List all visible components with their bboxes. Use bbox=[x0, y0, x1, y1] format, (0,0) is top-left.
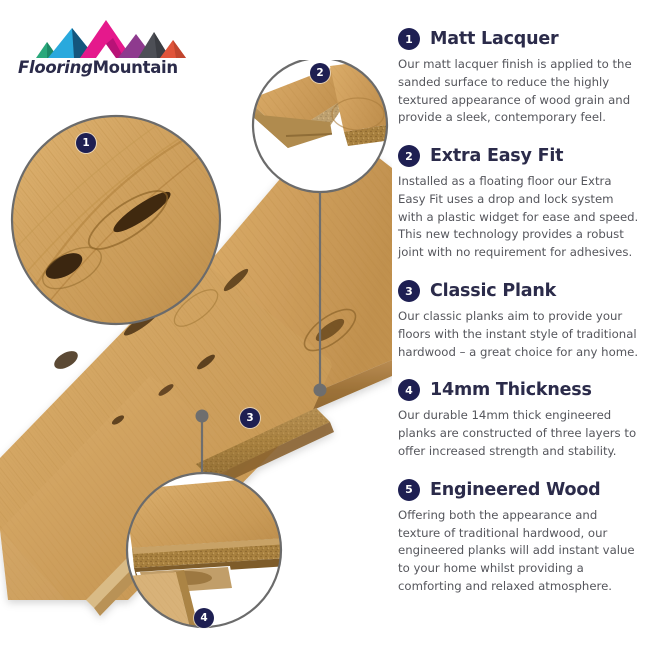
infographic-canvas: FlooringMountain bbox=[0, 0, 650, 650]
feature-item-5: 5 Engineered Wood Offering both the appe… bbox=[398, 479, 642, 596]
mountain-peaks-logo-icon bbox=[14, 14, 194, 62]
feature-3-body: Our classic planks aim to provide your f… bbox=[398, 308, 642, 361]
photo-badge-3[interactable]: 3 bbox=[240, 408, 260, 428]
feature-4-badge: 4 bbox=[398, 379, 420, 401]
photo-badge-4[interactable]: 4 bbox=[194, 608, 214, 628]
feature-1-badge: 1 bbox=[398, 28, 420, 50]
feature-2-header: 2 Extra Easy Fit bbox=[398, 145, 642, 167]
feature-2-body: Installed as a floating floor our Extra … bbox=[398, 173, 642, 262]
feature-item-3: 3 Classic Plank Our classic planks aim t… bbox=[398, 280, 642, 361]
product-photo-with-callouts: 1 2 3 4 bbox=[0, 60, 392, 650]
feature-4-title: 14mm Thickness bbox=[430, 380, 592, 400]
feature-3-title: Classic Plank bbox=[430, 281, 556, 301]
feature-1-title: Matt Lacquer bbox=[430, 29, 558, 49]
feature-3-header: 3 Classic Plank bbox=[398, 280, 642, 302]
feature-5-badge: 5 bbox=[398, 479, 420, 501]
feature-item-2: 2 Extra Easy Fit Installed as a floating… bbox=[398, 145, 642, 262]
feature-5-title: Engineered Wood bbox=[430, 480, 601, 500]
feature-2-title: Extra Easy Fit bbox=[430, 146, 563, 166]
feature-4-header: 4 14mm Thickness bbox=[398, 379, 642, 401]
feature-4-body: Our durable 14mm thick engineered planks… bbox=[398, 407, 642, 460]
feature-3-badge: 3 bbox=[398, 280, 420, 302]
feature-5-header: 5 Engineered Wood bbox=[398, 479, 642, 501]
feature-item-4: 4 14mm Thickness Our durable 14mm thick … bbox=[398, 379, 642, 460]
feature-5-body: Offering both the appearance and texture… bbox=[398, 507, 642, 596]
plank-illustration bbox=[0, 60, 392, 650]
feature-1-body: Our matt lacquer finish is applied to th… bbox=[398, 56, 642, 127]
feature-list: 1 Matt Lacquer Our matt lacquer finish i… bbox=[398, 28, 642, 614]
feature-1-header: 1 Matt Lacquer bbox=[398, 28, 642, 50]
feature-2-badge: 2 bbox=[398, 145, 420, 167]
photo-badge-1[interactable]: 1 bbox=[76, 133, 96, 153]
photo-badge-2[interactable]: 2 bbox=[310, 63, 330, 83]
feature-item-1: 1 Matt Lacquer Our matt lacquer finish i… bbox=[398, 28, 642, 127]
